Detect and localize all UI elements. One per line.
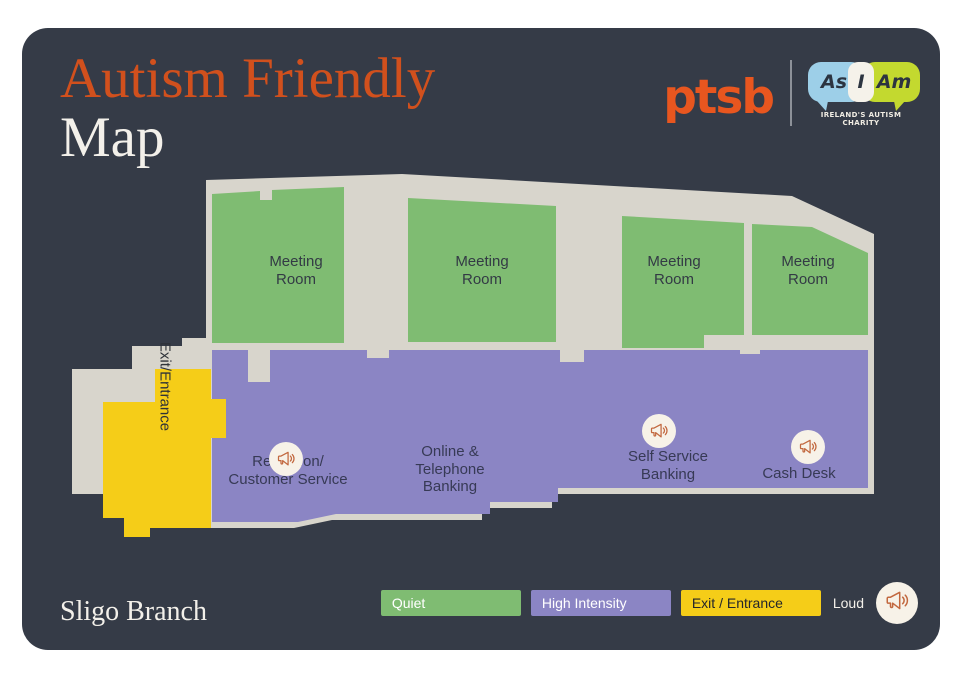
- loud-marker-reception[interactable]: [269, 442, 303, 476]
- page-root: Autism Friendly Map ptsb As Am I IRELAND…: [0, 0, 960, 677]
- legend-item-quiet[interactable]: Quiet: [381, 590, 521, 616]
- pillar-2: [367, 344, 389, 358]
- legend-megaphone-icon: [876, 582, 918, 624]
- meeting-room-2-shape[interactable]: [408, 198, 556, 342]
- legend-item-high-intensity[interactable]: High Intensity: [531, 590, 671, 616]
- autism-friendly-map-card: Autism Friendly Map ptsb As Am I IRELAND…: [22, 28, 940, 650]
- megaphone-icon: [798, 437, 818, 457]
- speech-bubble-i: I: [848, 62, 874, 102]
- legend-label-loud: Loud: [833, 595, 864, 611]
- legend-label-quiet: Quiet: [392, 595, 425, 611]
- meeting-room-3-shape[interactable]: [622, 216, 744, 348]
- loud-marker-self-service-banking[interactable]: [642, 414, 676, 448]
- megaphone-icon: [276, 449, 296, 469]
- pillar-3: [560, 344, 584, 362]
- exit-entrance-label: Exit/Entrance: [157, 332, 174, 442]
- high-intensity-floor-shape[interactable]: [212, 350, 868, 522]
- floorplan: Meeting Room Meeting Room Meeting Room M…: [22, 28, 940, 650]
- legend: Quiet High Intensity Exit / Entrance Lou…: [381, 582, 918, 624]
- legend-item-exit-entrance[interactable]: Exit / Entrance: [681, 590, 821, 616]
- pillar-4: [740, 338, 760, 354]
- loud-marker-cash-desk[interactable]: [791, 430, 825, 464]
- meeting-room-1-shape[interactable]: [212, 187, 344, 343]
- megaphone-icon: [649, 421, 669, 441]
- megaphone-icon: [884, 588, 910, 619]
- pillar-1: [248, 350, 270, 382]
- legend-label-exit-entrance: Exit / Entrance: [692, 595, 783, 611]
- branch-name: Sligo Branch: [60, 596, 207, 628]
- legend-label-high-intensity: High Intensity: [542, 595, 627, 611]
